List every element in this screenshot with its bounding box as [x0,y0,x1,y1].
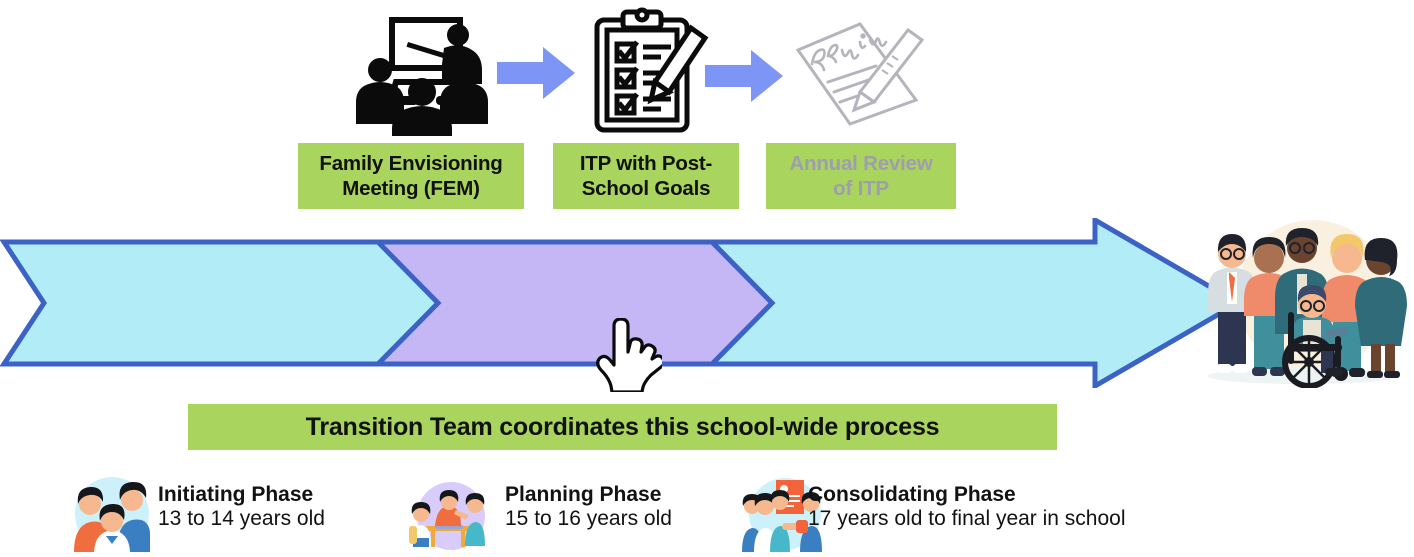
label-box-annual-review[interactable]: Annual Review of ITP [766,143,956,209]
bottom-banner-text: Transition Team coordinates this school-… [306,413,940,442]
review-line2: of ITP [833,177,889,200]
itp-line1: ITP with Post- [580,152,712,175]
phase-title-consolidating: Consolidating Phase [808,483,1126,507]
top-flow-row: Family Envisioning Meeting (FEM) ITP wit… [0,0,1414,140]
fem-box-text: Family Envisioning Meeting (FEM) [319,151,502,201]
pointing-hand-cursor[interactable] [592,318,662,392]
phase-label-consolidating: Consolidating Phase 17 years old to fina… [808,483,1126,532]
phase-shape-initiating [4,242,438,364]
review-box-text: Annual Review of ITP [789,151,932,201]
infographic-canvas: Family Envisioning Meeting (FEM) ITP wit… [0,0,1414,475]
fem-line1: Family Envisioning [319,152,502,175]
itp-line2: School Goals [582,177,711,200]
phase-title-initiating: Initiating Phase [158,483,325,507]
label-box-itp[interactable]: ITP with Post- School Goals [553,143,739,209]
family-trio-illustration [66,476,158,552]
phase-subtitle-consolidating: 17 years old to final year in school [808,507,1126,531]
label-box-fem[interactable]: Family Envisioning Meeting (FEM) [298,143,524,209]
review-document-icon [788,12,934,132]
phase-label-initiating: Initiating Phase 13 to 14 years old [158,483,325,532]
phase-subtitle-planning: 15 to 16 years old [505,507,672,531]
clipboard-checklist-icon [583,6,715,138]
phase-shape-consolidating [700,220,1238,386]
phase-subtitle-initiating: 13 to 14 years old [158,507,325,531]
phase-title-planning: Planning Phase [505,483,672,507]
review-line1: Annual Review [789,152,932,175]
diverse-group-illustration [1185,216,1414,388]
flow-arrow-1 [497,47,575,99]
phase-label-planning: Planning Phase 15 to 16 years old [505,483,672,532]
itp-box-text: ITP with Post- School Goals [580,151,712,201]
bottom-banner: Transition Team coordinates this school-… [188,404,1057,450]
fem-line2: Meeting (FEM) [342,177,479,200]
meeting-presentation-icon [352,8,510,136]
flow-arrow-2 [705,50,783,102]
planning-meeting-illustration [403,480,495,552]
